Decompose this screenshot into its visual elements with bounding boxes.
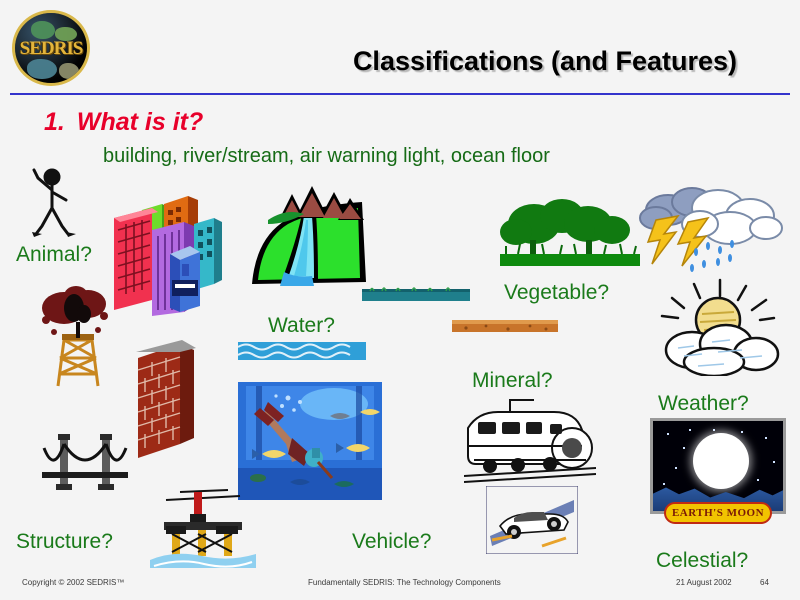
bridge-illustration (42, 430, 128, 490)
question-text: What is it? (77, 108, 203, 136)
label-weather: Weather? (658, 392, 749, 416)
footer-copyright: Copyright © 2002 SEDRIS™ (22, 578, 124, 587)
car-illustration (486, 486, 578, 554)
water-waves-illustration (238, 340, 366, 362)
oil-derrick-illustration (38, 282, 118, 392)
moon-photo: EARTH'S MOON (650, 418, 786, 534)
sedris-logo: SEDRIS (8, 8, 96, 88)
question-heading: 1.What is it? (44, 108, 203, 137)
examples-line: building, river/stream, air warning ligh… (103, 145, 550, 168)
label-structure: Structure? (16, 530, 113, 554)
footer-title: Fundamentally SEDRIS: The Technology Com… (308, 578, 501, 587)
person-illustration (26, 168, 80, 238)
oil-platform-illustration (150, 486, 256, 572)
label-vehicle: Vehicle? (352, 530, 431, 554)
sun-cloud-illustration (650, 278, 790, 376)
brick-wall-illustration (128, 340, 200, 460)
river-stream-illustration (246, 180, 368, 290)
vegetation-illustration (500, 196, 640, 276)
footer-page-number: 64 (760, 578, 769, 587)
globe-landmass (31, 21, 55, 39)
label-water: Water? (268, 314, 335, 338)
underwater-scene-illustration (238, 382, 382, 500)
train-illustration (464, 398, 596, 484)
label-mineral: Mineral? (472, 369, 553, 393)
label-vegetable: Vegetable? (504, 281, 609, 305)
slide-canvas: SEDRIS Classifications (and Features) 1.… (0, 0, 800, 600)
moon-photo-frame (650, 418, 786, 514)
globe-landmass (27, 59, 57, 79)
slide-title: Classifications (and Features) (300, 46, 790, 77)
globe-landmass (59, 63, 79, 79)
moon-caption-banner: EARTH'S MOON (664, 502, 772, 524)
city-buildings-illustration (108, 188, 230, 316)
footer-date: 21 August 2002 (676, 578, 732, 587)
ocean-floor-illustration (362, 285, 470, 305)
label-celestial: Celestial? (656, 549, 748, 573)
moon-disc (693, 433, 749, 489)
title-divider (10, 93, 790, 95)
soil-strip-illustration (452, 318, 558, 334)
question-number: 1. (44, 108, 65, 136)
logo-wordmark: SEDRIS (8, 38, 94, 60)
label-animal: Animal? (16, 243, 92, 267)
